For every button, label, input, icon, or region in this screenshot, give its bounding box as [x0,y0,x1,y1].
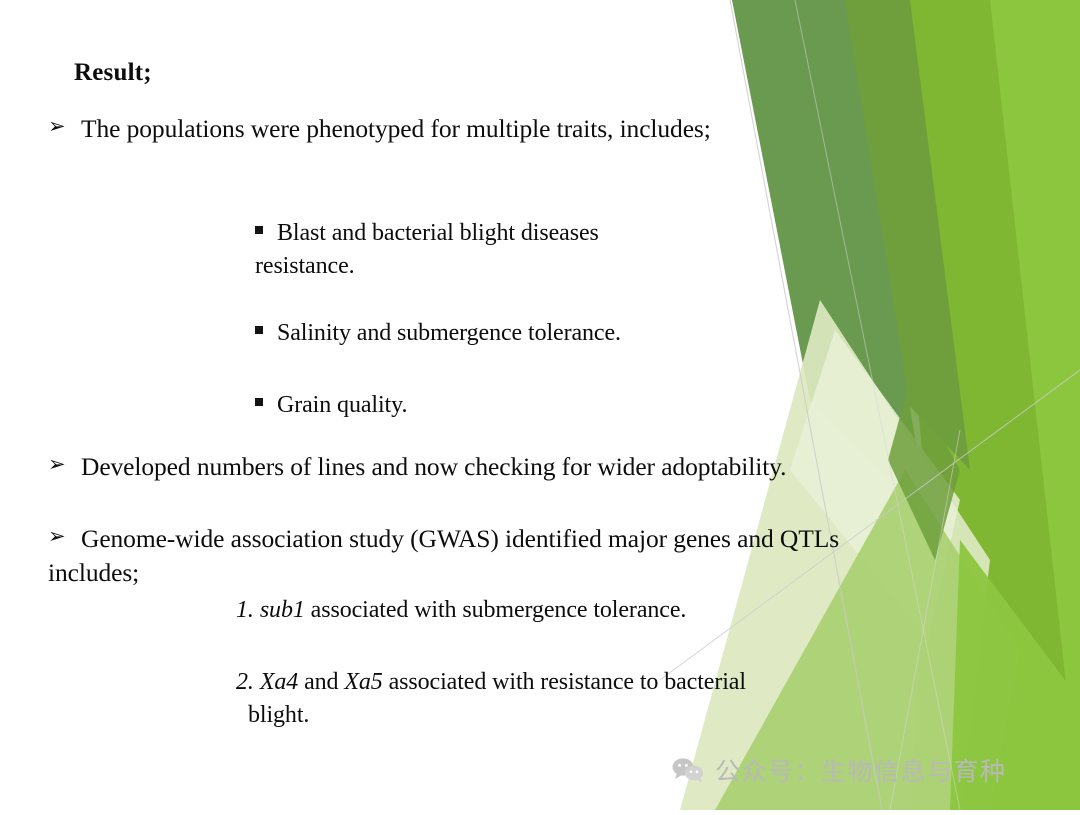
bullet-1-text: The populations were phenotyped for mult… [48,112,888,146]
sub-bullet-3-text: Grain quality. [255,389,655,422]
slide-content: Result; ➢ The populations were phenotype… [0,0,1080,810]
square-bullet-icon [255,226,263,234]
sub-bullet-item-1: Blast and bacterial blight diseases resi… [255,217,725,282]
bullet-item-3: ➢ Genome-wide association study (GWAS) i… [48,522,998,590]
numbered-1-gene: sub1 [254,597,305,623]
bullet-2-text: Developed numbers of lines and now check… [48,450,988,484]
bullet-item-2: ➢ Developed numbers of lines and now che… [48,450,988,484]
sub-bullet-1-text: Blast and bacterial blight diseases [255,217,725,250]
numbered-item-2: 2.Xa4 and Xa5 associated with resistance… [236,666,916,731]
bullet-3-text: Genome-wide association study (GWAS) ide… [48,522,998,556]
numbered-2-number: 2. [236,669,254,695]
bullet-3-continuation: includes; [48,556,998,590]
square-bullet-icon [255,326,263,334]
numbered-2-gene-2: Xa5 [344,669,382,695]
bullet-item-1: ➢ The populations were phenotyped for mu… [48,112,888,146]
sub-bullet-item-3: Grain quality. [255,389,655,422]
numbered-1-text: associated with submergence tolerance. [305,597,687,623]
numbered-2-conjunction: and [298,669,344,695]
square-bullet-icon [255,398,263,406]
page-title: Result; [74,59,152,87]
sub-bullet-2-text: Salinity and submergence tolerance. [255,317,755,350]
numbered-2-continuation: blight. [236,699,916,732]
arrow-bullet-icon: ➢ [48,451,66,479]
sub-bullet-item-2: Salinity and submergence tolerance. [255,317,755,350]
arrow-bullet-icon: ➢ [48,523,66,551]
numbered-1-number: 1. [236,597,254,623]
arrow-bullet-icon: ➢ [48,113,66,141]
sub-bullet-1-continuation: resistance. [255,250,725,283]
numbered-2-text: associated with resistance to bacterial [383,669,746,695]
numbered-item-1: 1.sub1 associated with submergence toler… [236,594,876,627]
numbered-2-gene-1: Xa4 [254,669,298,695]
